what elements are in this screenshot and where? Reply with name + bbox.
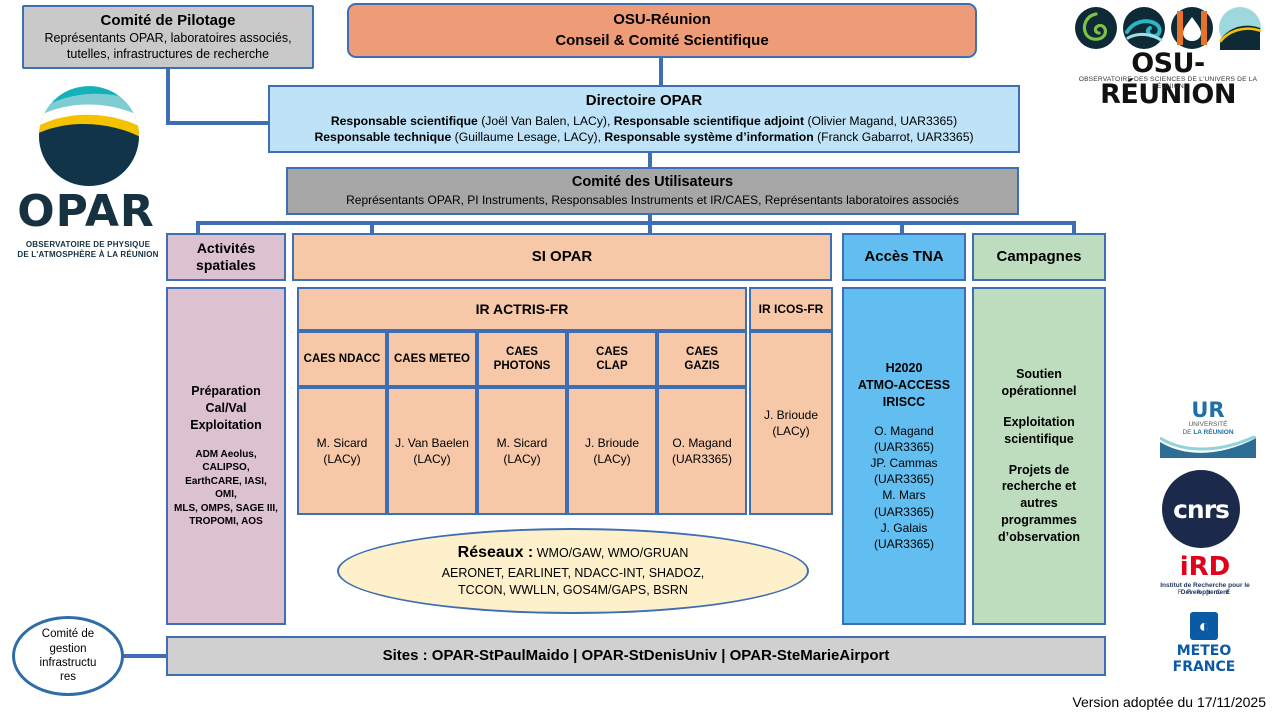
ur-line2-bold: LA RÉUNION — [1193, 429, 1233, 436]
caes-person-0-line2: (LACy) — [323, 451, 360, 467]
ur-mark: UR — [1160, 398, 1256, 422]
connector-gestion-sites — [120, 654, 170, 658]
meteo-france-mark-icon: ◐ — [1190, 612, 1218, 640]
campagnes-item-2: Exploitation scientifique — [1003, 414, 1075, 448]
connector-directoire-users — [648, 153, 652, 168]
opar-sub-line1: OBSERVATOIRE DE PHYSIQUE — [8, 240, 168, 250]
campagnes-item3-line3: autres — [998, 495, 1080, 512]
gestion-line3: infrastructu — [40, 656, 97, 670]
gestion-line4: res — [40, 670, 97, 684]
caes-name-0-line1: CAES NDACC — [304, 352, 381, 366]
meteo-france-line2: FRANCE — [1168, 659, 1240, 675]
tna-people-line7: J. Galais — [870, 520, 937, 536]
caes-name-3-line1: CAES — [596, 345, 628, 359]
tna-people-line5: M. Mars — [870, 487, 937, 503]
icos-cell-person[interactable]: J. Brioude (LACy) — [749, 331, 833, 515]
spatial-missions-line4: TROPOMI, AOS — [173, 515, 279, 529]
ir-actris-fr-header[interactable]: IR ACTRIS-FR — [297, 287, 747, 331]
comite-utilisateurs-subtitle: Représentants OPAR, PI Instruments, Resp… — [346, 193, 959, 207]
osu-council-line2: Conseil & Comité Scientifique — [555, 32, 768, 50]
campagnes-header-label: Campagnes — [996, 248, 1081, 266]
directoire-person-2: (Olivier Magand, UAR3365) — [807, 114, 957, 128]
org-chart-canvas: Comité de Pilotage Représentants OPAR, l… — [0, 0, 1280, 720]
activites-spatiales-header-line2: spatiales — [196, 257, 256, 275]
caes-cell-header-3[interactable]: CAES CLAP — [567, 331, 657, 387]
caes-cell-header-2[interactable]: CAES PHOTONS — [477, 331, 567, 387]
cnrs-disc: cnrs — [1162, 470, 1240, 548]
caes-cell-header-4[interactable]: CAES GAZIS — [657, 331, 747, 387]
campagnes-item3-line2: recherche et — [998, 478, 1080, 495]
caes-cell-header-1[interactable]: CAES METEO — [387, 331, 477, 387]
ird-logo: iRD Institut de Recherche pour le Dévelo… — [1150, 552, 1260, 604]
campagnes-item-1: Soutien opérationnel — [1001, 366, 1076, 400]
ird-line2: F R A N C E — [1150, 590, 1260, 596]
ir-icos-fr-header[interactable]: IR ICOS-FR — [749, 287, 833, 331]
opar-sub-line2: DE L'ATMOSPHÈRE À LA RÉUNION — [8, 250, 168, 260]
caes-name-4-line2: GAZIS — [684, 359, 719, 373]
comite-gestion-infrastructures-ellipse[interactable]: Comité de gestion infrastructu res — [12, 616, 124, 696]
spatial-main-line3: Exploitation — [190, 417, 262, 434]
sites-bar[interactable]: Sites : OPAR-StPaulMaido | OPAR-StDenisU… — [166, 636, 1106, 676]
gestion-line2: gestion — [40, 642, 97, 656]
caes-cell-person-2[interactable]: M. Sicard (LACy) — [477, 387, 567, 515]
campagnes-item1-line1: Soutien — [1001, 366, 1076, 383]
cnrs-mark: cnrs — [1173, 495, 1229, 524]
caes-name-3-line2: CLAP — [596, 359, 627, 373]
comite-pilotage-title: Comité de Pilotage — [100, 12, 235, 30]
campagnes-header[interactable]: Campagnes — [972, 233, 1106, 281]
caes-person-3-line2: (LACy) — [593, 451, 630, 467]
osu-sub: OBSERVATOIRE DES SCIENCES DE L'UNIVERS D… — [1070, 76, 1266, 90]
osu-reunion-logo: OSU-RÉUNION OBSERVATOIRE DES SCIENCES DE… — [1070, 6, 1266, 84]
ir-actris-fr-label: IR ACTRIS-FR — [476, 301, 569, 318]
reseaux-ellipse[interactable]: Réseaux : WMO/GAW, WMO/GRUAN AERONET, EA… — [337, 528, 809, 614]
gestion-line1: Comité de — [40, 627, 97, 641]
opar-logo: OPAR OBSERVATOIRE DE PHYSIQUE DE L'ATMOS… — [8, 84, 168, 274]
spatial-main-line2: Cal/Val — [190, 400, 262, 417]
tna-people-line1: O. Magand — [870, 423, 937, 439]
caes-person-4-line2: (UAR3365) — [672, 451, 732, 467]
si-opar-header-label: SI OPAR — [532, 248, 593, 266]
tna-people-line4: (UAR3365) — [870, 471, 937, 487]
tna-prog-line2: ATMO-ACCESS — [858, 377, 950, 394]
tna-people-line6: (UAR3365) — [870, 504, 937, 520]
activites-spatiales-body[interactable]: Préparation Cal/Val Exploitation ADM Aeo… — [166, 287, 286, 625]
caes-cell-person-3[interactable]: J. Brioude (LACy) — [567, 387, 657, 515]
tna-prog-line1: H2020 — [858, 360, 950, 377]
caes-cell-person-4[interactable]: O. Magand (UAR3365) — [657, 387, 747, 515]
caes-cell-person-0[interactable]: M. Sicard (LACy) — [297, 387, 387, 515]
caes-person-1-line2: (LACy) — [413, 451, 450, 467]
caes-person-1-line1: J. Van Baelen — [395, 435, 469, 451]
campagnes-item3-line4: programmes — [998, 512, 1080, 529]
osu-emblem-icons — [1070, 6, 1266, 50]
comite-utilisateurs-title: Comité des Utilisateurs — [572, 174, 733, 191]
sites-label: Sites : OPAR-StPaulMaido | OPAR-StDenisU… — [383, 647, 890, 665]
directoire-role-1: Responsable scientifique — [331, 114, 478, 128]
caes-name-4-line1: CAES — [686, 345, 718, 359]
caes-person-0-line1: M. Sicard — [317, 435, 368, 451]
caes-name-1-line1: CAES METEO — [394, 352, 470, 366]
reseaux-line3: TCCON, WWLLN, GOS4M/GAPS, BSRN — [458, 582, 688, 600]
directoire-role-4: Responsable système d’information — [604, 130, 813, 144]
acces-tna-header[interactable]: Accès TNA — [842, 233, 966, 281]
ur-wave-icon — [1160, 436, 1256, 458]
acces-tna-header-label: Accès TNA — [864, 248, 943, 266]
connector-bus-horizontal — [196, 221, 1076, 225]
opar-wordmark: OPAR — [10, 190, 162, 234]
comite-de-pilotage-box[interactable]: Comité de Pilotage Représentants OPAR, l… — [22, 5, 314, 69]
caes-person-4-line1: O. Magand — [672, 435, 731, 451]
comite-pilotage-subtitle-line2: tutelles, infrastructures de recherche — [67, 47, 269, 63]
reseaux-line2: AERONET, EARLINET, NDACC-INT, SHADOZ, — [442, 565, 705, 583]
meteo-france-logo: ◐ METEO FRANCE — [1168, 612, 1240, 682]
caes-cell-header-0[interactable]: CAES NDACC — [297, 331, 387, 387]
version-label: Version adoptée du 17/11/2025 — [1072, 694, 1266, 710]
ur-line1: UNIVERSITÉ — [1160, 421, 1256, 428]
directoire-person-4: (Franck Gabarrot, UAR3365) — [817, 130, 973, 144]
tna-people-line2: (UAR3365) — [870, 439, 937, 455]
campagnes-item1-line2: opérationnel — [1001, 383, 1076, 400]
campagnes-item2-line2: scientifique — [1003, 431, 1075, 448]
comite-pilotage-subtitle-line1: Représentants OPAR, laboratoires associé… — [44, 31, 291, 47]
directoire-row-1: Responsable scientifique (Joël Van Balen… — [331, 113, 957, 129]
campagnes-item3-line1: Projets de — [998, 462, 1080, 479]
caes-name-2-line1: CAES — [506, 345, 538, 359]
directoire-row-2: Responsable technique (Guillaume Lesage,… — [314, 129, 973, 145]
icos-person-line1: J. Brioude — [764, 407, 818, 423]
directoire-title: Directoire OPAR — [586, 92, 702, 110]
ur-line2: DE LA RÉUNION — [1160, 429, 1256, 436]
directoire-opar-box[interactable]: Directoire OPAR Responsable scientifique… — [268, 85, 1020, 153]
campagnes-item-3: Projets de recherche et autres programme… — [998, 462, 1080, 546]
connector-osu-directoire — [659, 58, 663, 86]
si-opar-header[interactable]: SI OPAR — [292, 233, 832, 281]
osu-reunion-council-box[interactable]: OSU-Réunion Conseil & Comité Scientifiqu… — [347, 3, 977, 58]
directoire-role-2: Responsable scientifique adjoint — [614, 114, 804, 128]
spatial-main-line1: Préparation — [190, 383, 262, 400]
universite-de-la-reunion-logo: UR UNIVERSITÉ DE LA RÉUNION — [1160, 398, 1256, 458]
connector-pilotage-horizontal — [166, 121, 270, 125]
caes-name-2-line2: PHOTONS — [494, 359, 551, 373]
directoire-person-1: (Joël Van Balen, LACy) — [481, 114, 607, 128]
reseaux-line1: WMO/GAW, WMO/GRUAN — [537, 546, 689, 560]
campagnes-body[interactable]: Soutien opérationnel Exploitation scient… — [972, 287, 1106, 625]
activites-spatiales-header-line1: Activités — [197, 240, 255, 258]
spatial-missions-line2: EarthCARE, IASI, OMI, — [173, 475, 279, 502]
directoire-role-3: Responsable technique — [314, 130, 451, 144]
activites-spatiales-header[interactable]: Activités spatiales — [166, 233, 286, 281]
comite-des-utilisateurs-box[interactable]: Comité des Utilisateurs Représentants OP… — [286, 167, 1019, 215]
tna-people-line8: (UAR3365) — [870, 536, 937, 552]
spatial-missions-line1: ADM Aeolus, CALIPSO, — [173, 448, 279, 475]
ur-line2-prefix: DE — [1182, 429, 1193, 436]
caes-person-2-line2: (LACy) — [503, 451, 540, 467]
opar-globe-icon — [30, 84, 148, 188]
caes-person-2-line1: M. Sicard — [497, 435, 548, 451]
caes-person-3-line1: J. Brioude — [585, 435, 639, 451]
acces-tna-body[interactable]: H2020 ATMO-ACCESS IRISCC O. Magand (UAR3… — [842, 287, 966, 625]
campagnes-item2-line1: Exploitation — [1003, 414, 1075, 431]
icos-person-line2: (LACy) — [772, 423, 809, 439]
osu-council-line1: OSU-Réunion — [613, 11, 711, 29]
spatial-missions-line3: MLS, OMPS, SAGE III, — [173, 502, 279, 516]
campagnes-item3-line5: d’observation — [998, 529, 1080, 546]
caes-cell-person-1[interactable]: J. Van Baelen (LACy) — [387, 387, 477, 515]
ird-mark: iRD — [1150, 552, 1260, 582]
tna-people-line3: JP. Cammas — [870, 455, 937, 471]
ir-icos-fr-label: IR ICOS-FR — [759, 302, 824, 316]
meteo-france-line1: METEO — [1168, 643, 1240, 659]
tna-prog-line3: IRISCC — [858, 394, 950, 411]
reseaux-label: Réseaux : — [458, 544, 534, 561]
directoire-person-3: (Guillaume Lesage, LACy) — [455, 130, 598, 144]
cnrs-logo: cnrs — [1162, 470, 1240, 548]
